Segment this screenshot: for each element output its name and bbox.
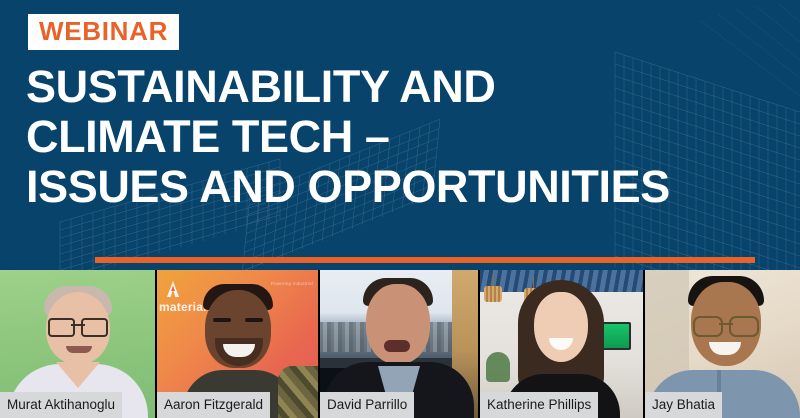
participant-name-label: Aaron Fitzgerald [157, 392, 270, 418]
video-tile-david[interactable]: David Parrillo [320, 270, 478, 418]
eyeglasses-icon [693, 316, 759, 333]
eyebrow-right [245, 318, 263, 322]
participant-video-strip: Murat Aktihanoglu materials Powering Ind… [0, 270, 800, 418]
video-tile-aaron[interactable]: materials Powering Industrial Aaron Fitz… [157, 270, 318, 418]
webinar-badge: WEBINAR [28, 14, 179, 50]
video-tile-katherine[interactable]: Katherine Phillips [480, 270, 643, 418]
brand-logo-icon [163, 280, 183, 299]
video-tile-murat[interactable]: Murat Aktihanoglu [0, 270, 155, 418]
eyeglasses-icon [48, 318, 108, 333]
title-line-3: ISSUES AND OPPORTUNITIES [26, 162, 786, 212]
video-tile-jay[interactable]: Jay Bhatia [645, 270, 800, 418]
mouth [384, 340, 410, 352]
eyebrow-left [213, 318, 231, 322]
title-line-2: CLIMATE TECH – [26, 112, 786, 162]
participant-name-label: Murat Aktihanoglu [0, 392, 122, 418]
webinar-title-slide: WEBINAR SUSTAINABILITY AND CLIMATE TECH … [0, 0, 800, 270]
face [366, 284, 430, 364]
camo-jacket [278, 366, 318, 418]
houseplant [486, 352, 510, 382]
participant-name-label: Katherine Phillips [480, 392, 598, 418]
participant-name-label: Jay Bhatia [645, 392, 722, 418]
face [534, 292, 588, 362]
participant-name-label: David Parrillo [320, 392, 414, 418]
pendant-lamp [484, 286, 502, 302]
brand-tagline-text: Powering Industrial [271, 281, 313, 286]
webinar-video-call-screenshot: WEBINAR SUSTAINABILITY AND CLIMATE TECH … [0, 0, 800, 418]
mouth [66, 346, 92, 353]
webinar-badge-label: WEBINAR [39, 18, 168, 44]
page-title: SUSTAINABILITY AND CLIMATE TECH – ISSUES… [26, 62, 786, 212]
title-line-1: SUSTAINABILITY AND [26, 62, 786, 112]
orange-accent-rule [95, 257, 755, 263]
